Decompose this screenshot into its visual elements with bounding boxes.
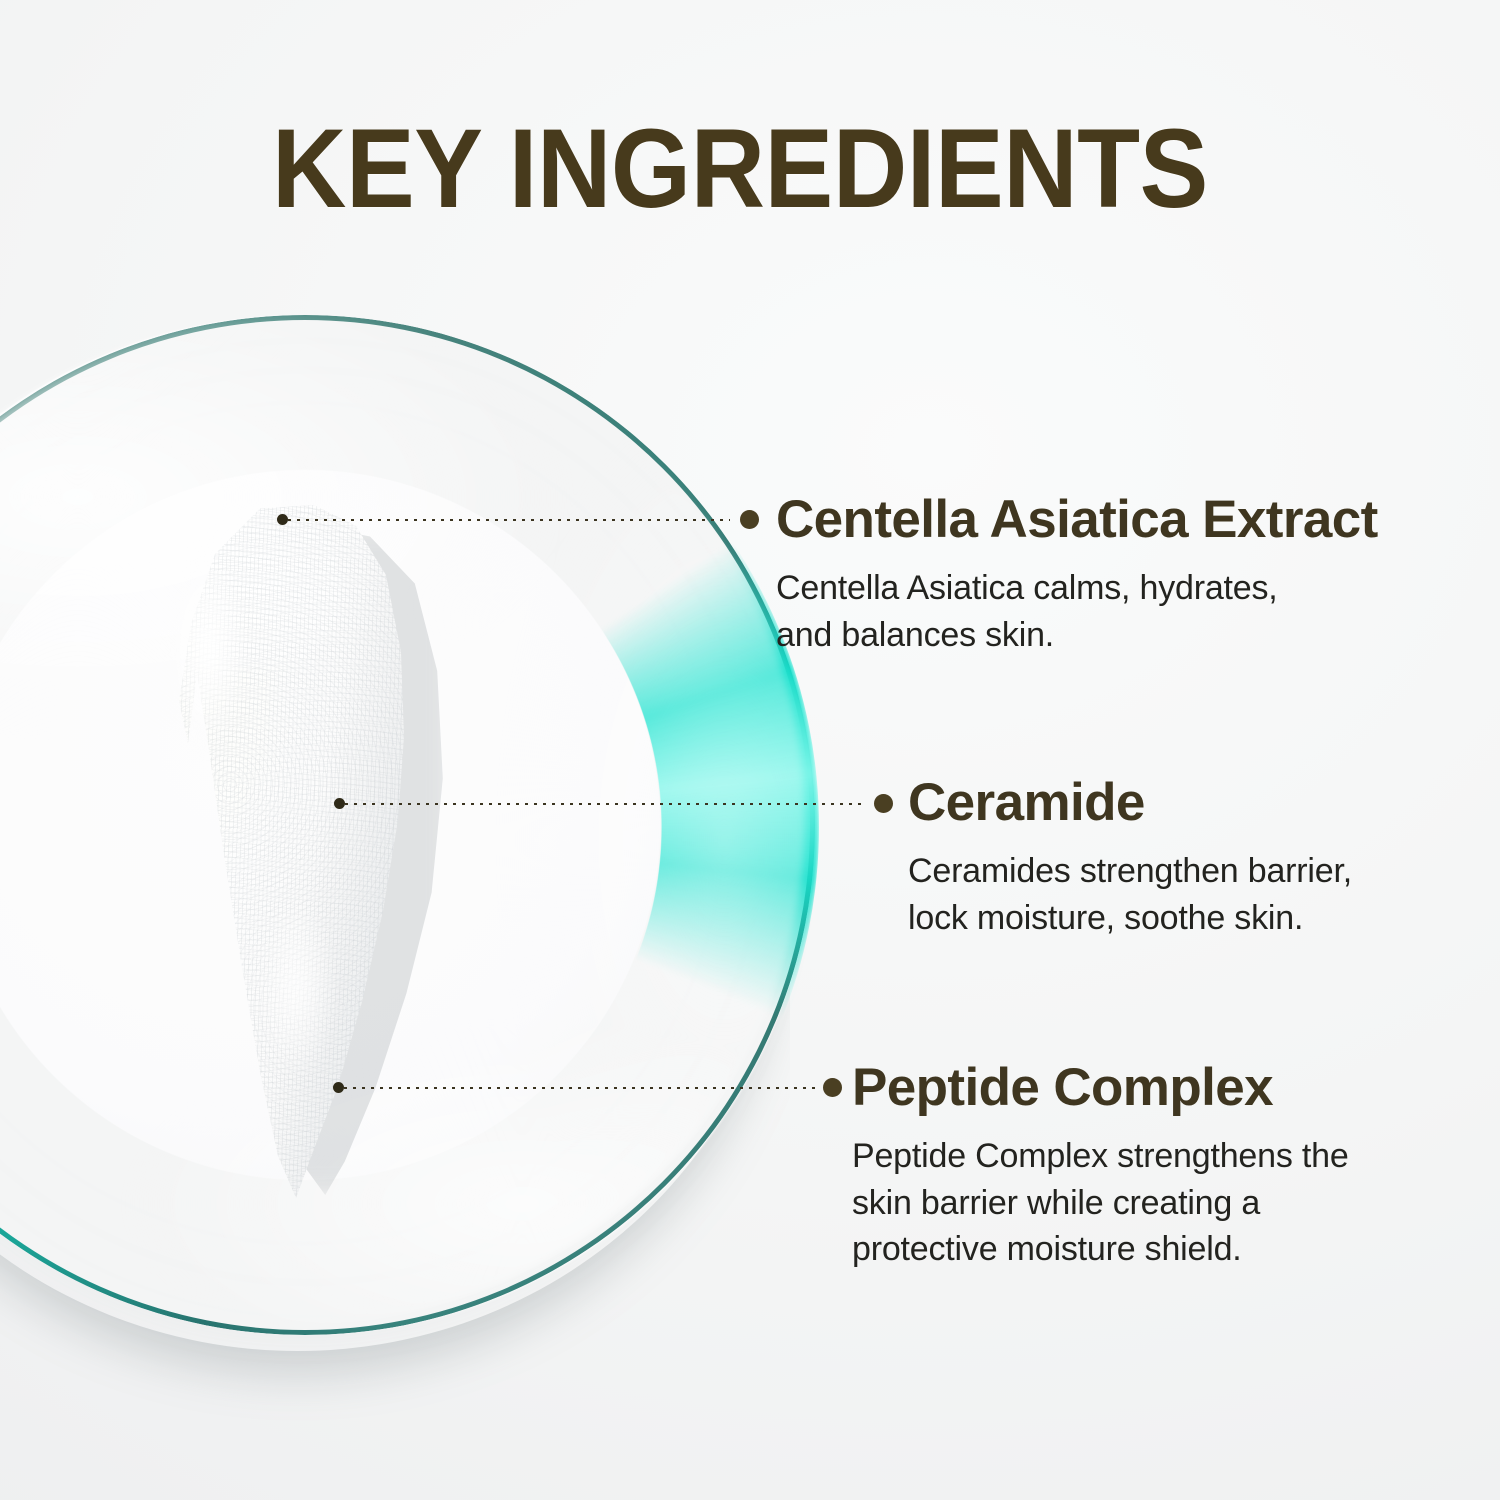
ingredient-description-centella: Centella Asiatica calms, hydrates, and b…	[776, 565, 1336, 659]
description-line: Ceramides strengthen barrier,	[908, 848, 1352, 895]
callout-source-dot-centella	[277, 514, 288, 525]
description-line: and balances skin.	[776, 612, 1336, 659]
leader-line-ceramide	[345, 803, 865, 805]
description-line: skin barrier while creating a	[852, 1180, 1349, 1227]
swatch-highlight-2	[232, 885, 362, 1145]
cream-swatch-image	[140, 505, 440, 1205]
ingredient-description-ceramide: Ceramides strengthen barrier, lock moist…	[908, 848, 1352, 942]
callout-bullet-centella	[740, 510, 759, 529]
ingredient-description-peptide: Peptide Complex strengthens the skin bar…	[852, 1133, 1349, 1274]
callout-bullet-ceramide	[874, 794, 893, 813]
key-ingredients-infographic: KEY INGREDIENTS Centella Asiatica Extrac…	[0, 0, 1500, 1500]
ingredient-item-centella: Centella Asiatica Extract Centella Asiat…	[776, 492, 1378, 658]
ingredient-name-ceramide: Ceramide	[908, 775, 1352, 831]
ingredient-item-ceramide: Ceramide Ceramides strengthen barrier, l…	[908, 775, 1352, 941]
description-line: Peptide Complex strengthens the	[852, 1133, 1349, 1180]
swatch-highlight-1	[154, 545, 274, 845]
ingredient-name-centella: Centella Asiatica Extract	[776, 492, 1378, 548]
ingredient-item-peptide: Peptide Complex Peptide Complex strength…	[852, 1060, 1349, 1273]
description-line: lock moisture, soothe skin.	[908, 895, 1352, 942]
leader-line-centella	[288, 519, 730, 521]
callout-source-dot-ceramide	[334, 798, 345, 809]
callout-source-dot-peptide	[333, 1082, 344, 1093]
leader-line-peptide	[344, 1087, 816, 1089]
ingredient-name-peptide: Peptide Complex	[852, 1060, 1349, 1116]
callout-bullet-peptide	[823, 1078, 842, 1097]
description-line: protective moisture shield.	[852, 1226, 1349, 1273]
description-line: Centella Asiatica calms, hydrates,	[776, 565, 1336, 612]
page-title: KEY INGREDIENTS	[272, 113, 1208, 225]
